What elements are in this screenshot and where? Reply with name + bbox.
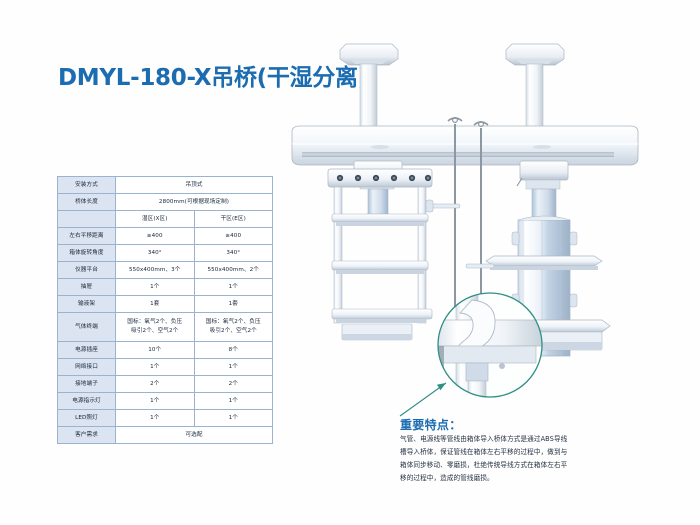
spec-row: 湿区(X区)干区(E区) <box>58 211 273 228</box>
spec-row-label: 左右平移距离 <box>58 228 116 245</box>
spec-row-dry-value: 国标：氧气2个、负压吸引2个、空气2个 <box>194 313 273 342</box>
spec-row-wet-value: 2个 <box>116 376 195 393</box>
spec-row-dry-value: 8个 <box>194 342 273 359</box>
spec-row-label: 抽屉 <box>58 279 116 296</box>
spec-row: 左右平移距离≥400≥400 <box>58 228 273 245</box>
spec-row-wet-value: 1个 <box>116 410 195 427</box>
spec-row-label: 安装方式 <box>58 177 116 194</box>
spec-row-value: 2800mm(可根据现场定制) <box>116 194 273 211</box>
spec-row-label: 箱体旋转角度 <box>58 245 116 262</box>
specification-table: 安装方式吊顶式桥体长度2800mm(可根据现场定制)湿区(X区)干区(E区)左右… <box>57 176 273 444</box>
spec-row-wet-value: 国标：氧气2个、负压吸引2个、空气2个 <box>116 313 195 342</box>
spec-row: 抽屉1个1个 <box>58 279 273 296</box>
dry-shelf-1 <box>486 256 602 270</box>
callout-arrow <box>400 383 446 416</box>
spec-row-wet-value: 1套 <box>116 296 195 313</box>
wet-drawer <box>342 324 412 340</box>
spec-row-wet-value: ≥400 <box>116 228 195 245</box>
spec-row: LED照灯1个1个 <box>58 410 273 427</box>
spec-row-label: 输液架 <box>58 296 116 313</box>
product-illustration <box>280 28 700 418</box>
gas-outlet-header <box>328 169 432 187</box>
spec-row-wet-value: 1个 <box>116 279 195 296</box>
spec-row-label: 客户需求 <box>58 427 116 444</box>
spec-row: 电源指示灯1个1个 <box>58 393 273 410</box>
spec-row-dry-value: 1个 <box>194 359 273 376</box>
spec-row-label: 电源插座 <box>58 342 116 359</box>
bridge-beam <box>292 126 638 165</box>
spec-row: 网络接口1个1个 <box>58 359 273 376</box>
spec-row-label: 网络接口 <box>58 359 116 376</box>
spec-row-wet-value: 550x400mm、3个 <box>116 262 195 279</box>
spec-row-dry-value: ≥400 <box>194 228 273 245</box>
spec-row-dry-value: 340° <box>194 245 273 262</box>
spec-row: 气体终端国标：氧气2个、负压吸引2个、空气2个国标：氧气2个、负压吸引2个、空气… <box>58 313 273 342</box>
carriage-right <box>517 161 568 189</box>
spec-row-wet-value: 340° <box>116 245 195 262</box>
spec-row-wet-value: 10个 <box>116 342 195 359</box>
feature-line-4: 移的过程中，造成的管线磨损。 <box>400 472 608 485</box>
spec-row-wet-value: 1个 <box>116 359 195 376</box>
spec-row-dry-value: 1个 <box>194 279 273 296</box>
spec-row: 桥体长度2800mm(可根据现场定制) <box>58 194 273 211</box>
spec-row-label: 气体终端 <box>58 313 116 342</box>
wet-shelf-3 <box>332 309 432 323</box>
feature-line-3: 箱体同步移动、零磨损，杜绝传统导线方式在箱体左右平 <box>400 459 608 472</box>
spec-row: 客户需求可选配 <box>58 427 273 444</box>
spec-row: 接地端子2个2个 <box>58 376 273 393</box>
spec-row-dry-value: 1个 <box>194 393 273 410</box>
spec-row: 输液架1套1套 <box>58 296 273 313</box>
spec-row-value: 可选配 <box>116 427 273 444</box>
spec-row-value: 吊顶式 <box>116 177 273 194</box>
wet-shelf-2 <box>332 261 428 274</box>
spec-row: 仪器平台550x400mm、3个550x400mm、2个 <box>58 262 273 279</box>
spec-row-wet-value: 1个 <box>116 393 195 410</box>
spec-row-dry-value: 干区(E区) <box>194 211 273 228</box>
spec-row-dry-value: 550x400mm、2个 <box>194 262 273 279</box>
spec-row: 箱体旋转角度340°340° <box>58 245 273 262</box>
spec-row-dry-value: 2个 <box>194 376 273 393</box>
spec-row-label <box>58 211 116 228</box>
spec-row: 安装方式吊顶式 <box>58 177 273 194</box>
page-root: DMYL-180-X吊桥(干湿分离) <box>0 0 700 525</box>
spec-row-label: 电源指示灯 <box>58 393 116 410</box>
spec-row-label: LED照灯 <box>58 410 116 427</box>
wet-shelf-1 <box>332 214 428 226</box>
spec-row-dry-value: 1个 <box>194 410 273 427</box>
important-features-body: 气管、电源线等管线由箱体导入桥体方式是通过ABS导线 槽导入桥体，保证管线在箱体… <box>400 433 608 484</box>
spec-row-dry-value: 1套 <box>194 296 273 313</box>
feature-line-1: 气管、电源线等管线由箱体导入桥体方式是通过ABS导线 <box>400 433 608 446</box>
important-features-heading: 重要特点： <box>400 416 462 433</box>
spec-row-label: 仪器平台 <box>58 262 116 279</box>
ceiling-mount-left <box>340 44 398 65</box>
spec-row-wet-value: 湿区(X区) <box>116 211 195 228</box>
ceiling-mount-right <box>506 44 564 65</box>
spec-row-label: 桥体长度 <box>58 194 116 211</box>
spec-row: 电源插座10个8个 <box>58 342 273 359</box>
spec-row-label: 接地端子 <box>58 376 116 393</box>
feature-line-2: 槽导入桥体，保证管线在箱体左右平移的过程中，做到与 <box>400 446 608 459</box>
